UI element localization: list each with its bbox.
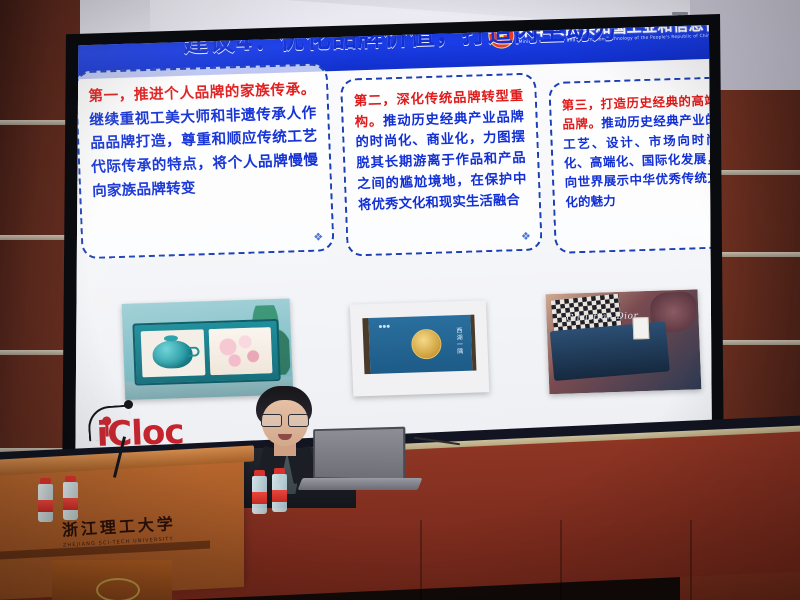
water-bottle[interactable] <box>252 470 267 514</box>
water-bottle[interactable] <box>38 478 53 522</box>
blue-box: ●●● 西湖一隅 <box>362 315 476 375</box>
gift-box <box>132 319 280 386</box>
price-tag-icon <box>633 317 650 339</box>
led-screen-display[interactable]: 中华人民共和国工业和信息化部 Ministry of Industry and … <box>68 20 718 490</box>
ceiling-fixture-icon <box>672 12 688 15</box>
laptop-screen <box>313 427 405 482</box>
water-bottle[interactable] <box>272 468 287 512</box>
university-seal-icon <box>96 578 140 600</box>
recommendation-box-2: 第二，深化传统品牌转型重构。推动历史经典产业品牌的时尚化、商业化，力图摆脱其长期… <box>340 72 542 256</box>
presentation-slide: 中华人民共和国工业和信息化部 Ministry of Industry and … <box>68 20 718 490</box>
laptop[interactable] <box>300 428 420 494</box>
eyeglasses-icon <box>261 414 309 425</box>
recommendation-box-1: 第一，推进个人品牌的家族传承。继续重视工美大师和非遗传承人作品品牌打造，尊重和顺… <box>74 63 334 259</box>
photo-blue-gift-box: ●●● 西湖一隅 <box>350 300 490 396</box>
slide-photo-row: ●●● 西湖一隅 Christian Dior <box>122 285 718 412</box>
box-1-body: 继续重视工美大师和非遗传承人作品品牌打造，尊重和顺应传统工艺代际传承的特点，将个… <box>89 104 319 199</box>
blue-box-text-left: ●●● <box>379 323 391 328</box>
water-bottle[interactable] <box>63 476 78 520</box>
teapot-icon <box>152 340 193 369</box>
gold-medallion-icon <box>411 329 442 360</box>
conference-photo-scene: 中华人民共和国工业和信息化部 Ministry of Industry and … <box>0 0 800 600</box>
box-2-ornament-icon: ❖ <box>521 230 531 243</box>
box-1-lead: 第一，推进个人品牌的家族传承。 <box>88 81 316 105</box>
microphone-icon[interactable] <box>124 400 133 409</box>
photo-dior-handbag: Christian Dior <box>546 289 702 394</box>
box-1-ornament-icon: ❖ <box>313 230 323 243</box>
blossom-pattern-icon <box>208 327 272 375</box>
recommendation-boxes: 第一，推进个人品牌的家族传承。继续重视工美大师和非遗传承人作品品牌打造，尊重和顺… <box>74 50 718 296</box>
recommendation-box-3: 第三，打造历史经典的高端品牌。推动历史经典产业的工艺、设计、市场向时尚化、高端化… <box>548 76 718 254</box>
handbag <box>550 321 670 381</box>
blue-box-text-right: 西湖一隅 <box>454 327 464 355</box>
laptop-keyboard[interactable] <box>298 478 423 490</box>
photo-teal-gift-box <box>122 299 294 400</box>
